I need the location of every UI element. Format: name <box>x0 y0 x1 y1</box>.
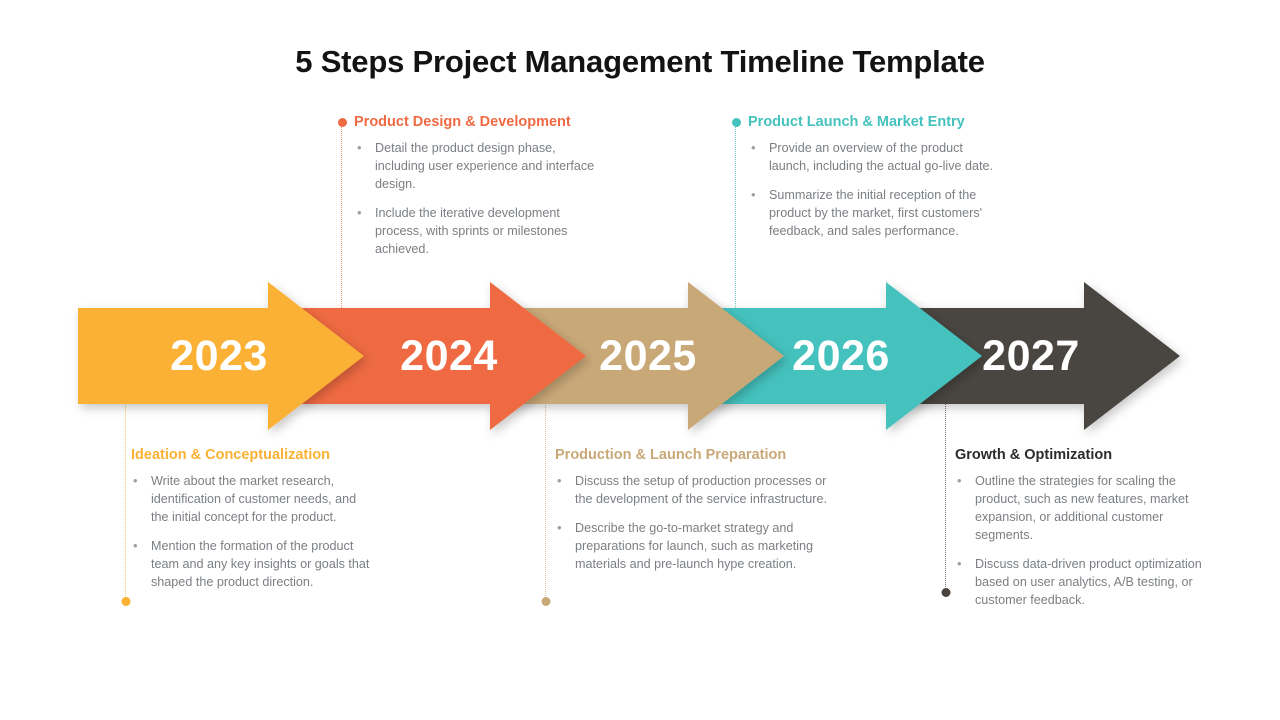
callout-heading-row: Production & Launch Preparation <box>555 447 830 464</box>
list-item: Provide an overview of the product launc… <box>749 140 999 176</box>
list-item: Outline the strategies for scaling the p… <box>955 473 1215 545</box>
callout-growth: Growth & Optimization Outline the strate… <box>955 447 1215 610</box>
callout-heading: Product Launch & Market Entry <box>748 114 965 131</box>
list-item: Summarize the initial reception of the p… <box>749 187 999 241</box>
callout-bullet-list: Provide an overview of the product launc… <box>749 140 999 240</box>
callout-heading: Ideation & Conceptualization <box>131 447 330 464</box>
callout-bullet-list: Outline the strategies for scaling the p… <box>955 473 1215 609</box>
callout-bullet-list: Detail the product design phase, includi… <box>355 140 605 258</box>
list-item: Write about the market research, identif… <box>131 473 376 527</box>
callout-heading: Growth & Optimization <box>955 447 1112 464</box>
callout-heading-row: Product Launch & Market Entry <box>732 114 999 131</box>
list-item: Detail the product design phase, includi… <box>355 140 605 194</box>
list-item: Include the iterative development proces… <box>355 205 605 259</box>
list-item: Discuss data-driven product optimization… <box>955 556 1215 610</box>
list-item: Mention the formation of the product tea… <box>131 538 376 592</box>
timeline-arrow-2023[interactable] <box>78 282 394 430</box>
connector-dot <box>541 597 550 606</box>
list-item: Describe the go-to-market strategy and p… <box>555 520 830 574</box>
callout-heading-row: Ideation & Conceptualization <box>131 447 376 464</box>
callout-heading: Production & Launch Preparation <box>555 447 786 464</box>
callout-heading-row: Growth & Optimization <box>955 447 1215 464</box>
connector-dot <box>121 597 130 606</box>
page-title: 5 Steps Project Management Timeline Temp… <box>0 44 1280 80</box>
bullet-dot-icon <box>732 118 741 127</box>
timeline-slide: 5 Steps Project Management Timeline Temp… <box>0 0 1280 720</box>
callout-production: Production & Launch Preparation Discuss … <box>555 447 830 574</box>
bullet-dot-icon <box>338 118 347 127</box>
callout-ideation: Ideation & Conceptualization Write about… <box>131 447 376 592</box>
callout-bullet-list: Write about the market research, identif… <box>131 473 376 591</box>
connector-dot <box>941 588 950 597</box>
timeline-arrow-band: 2023 2024 2025 2026 2027 <box>0 282 1280 430</box>
callout-product-launch: Product Launch & Market Entry Provide an… <box>749 114 999 241</box>
callout-heading-row: Product Design & Development <box>338 114 605 131</box>
list-item: Discuss the setup of production processe… <box>555 473 830 509</box>
callout-product-design: Product Design & Development Detail the … <box>355 114 605 259</box>
callout-heading: Product Design & Development <box>354 114 571 131</box>
callout-bullet-list: Discuss the setup of production processe… <box>555 473 830 573</box>
